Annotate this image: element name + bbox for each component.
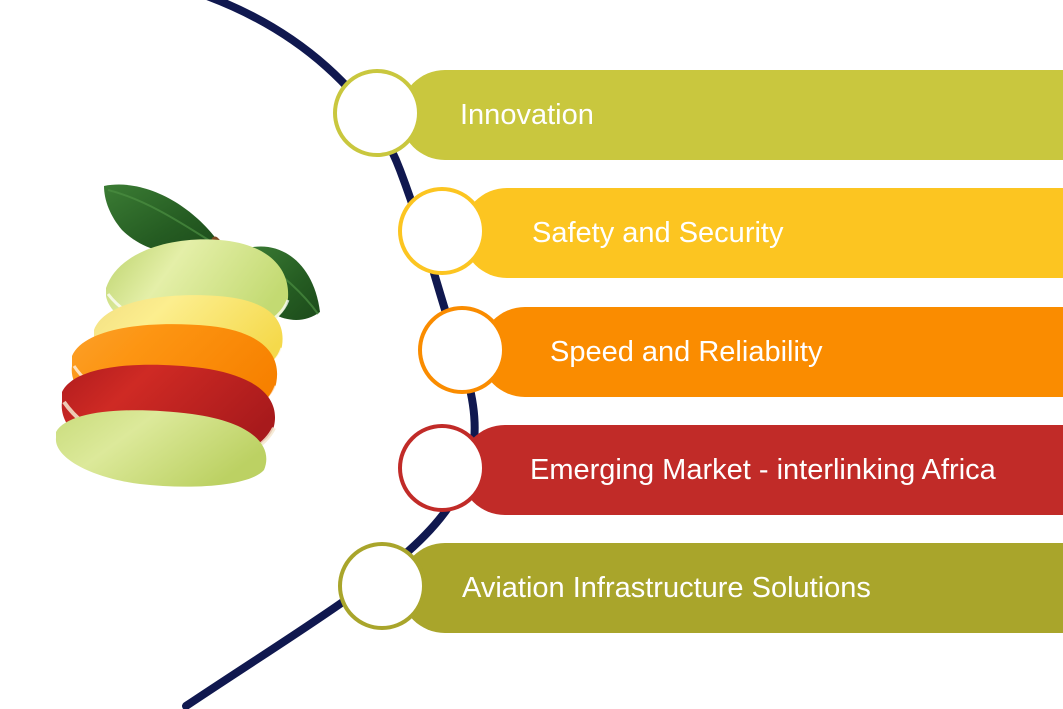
bar-speed-and-reliability[interactable]: Speed and Reliability [480,307,1063,397]
bar-label-safety-and-security: Safety and Security [532,219,783,248]
list-item[interactable]: Innovation [0,70,1063,160]
bar-innovation[interactable]: Innovation [400,70,1063,160]
list-item[interactable]: Safety and Security [0,188,1063,278]
node-circle-aviation-infrastructure-solutions[interactable] [338,542,426,630]
node-circle-innovation[interactable] [333,69,421,157]
bar-aviation-infrastructure-solutions[interactable]: Aviation Infrastructure Solutions [400,543,1063,633]
bar-label-innovation: Innovation [460,101,594,130]
bar-emerging-market[interactable]: Emerging Market - interlinking Africa [460,425,1063,515]
list-item[interactable]: Speed and Reliability [0,307,1063,397]
node-circle-emerging-market[interactable] [398,424,486,512]
list-item[interactable]: Emerging Market - interlinking Africa [0,425,1063,515]
node-circle-safety-and-security[interactable] [398,187,486,275]
slide-canvas: Innovation Safety and Security Speed and… [0,0,1063,709]
bar-label-aviation-infrastructure-solutions: Aviation Infrastructure Solutions [462,574,871,603]
bar-label-speed-and-reliability: Speed and Reliability [550,338,822,367]
node-circle-speed-and-reliability[interactable] [418,306,506,394]
bar-label-emerging-market: Emerging Market - interlinking Africa [530,456,996,485]
bar-safety-and-security[interactable]: Safety and Security [462,188,1063,278]
list-item[interactable]: Aviation Infrastructure Solutions [0,543,1063,633]
